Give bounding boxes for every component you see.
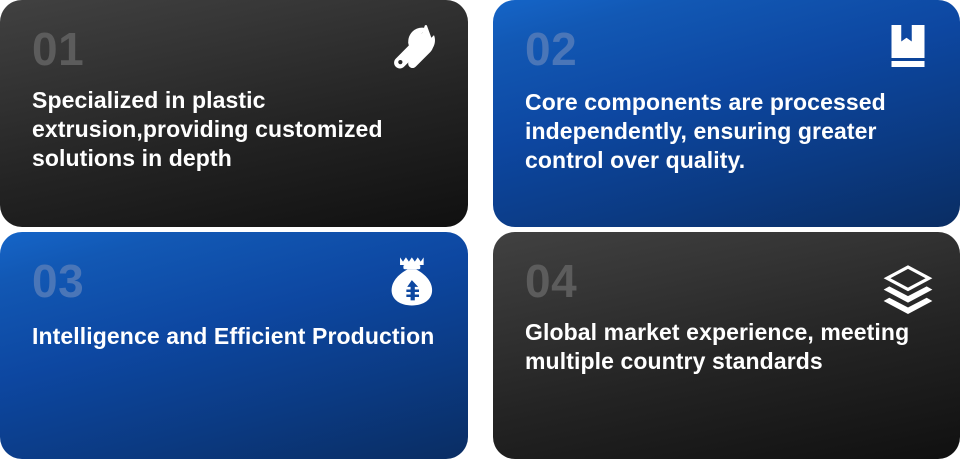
feature-card-grid: 01 Specialized in plastic extrusion,prov… [0, 0, 960, 459]
card-number-03: 03 [32, 258, 442, 304]
card-number-02: 02 [525, 26, 934, 72]
card-number-04: 04 [525, 258, 934, 304]
feature-card-02[interactable]: 02 Core components are processed indepen… [493, 0, 960, 227]
card-title-01: Specialized in plastic extrusion,providi… [32, 86, 442, 174]
money-bag-yen-icon [384, 254, 438, 308]
card-title-02: Core components are processed independen… [525, 88, 934, 176]
feature-card-04[interactable]: 04 Global market experience, meeting mul… [493, 232, 960, 459]
card-title-04: Global market experience, meeting multip… [525, 318, 925, 376]
card-title-03: Intelligence and Efficient Production [32, 322, 442, 351]
card-number-01: 01 [32, 26, 442, 72]
feature-card-01[interactable]: 01 Specialized in plastic extrusion,prov… [0, 0, 468, 227]
wrench-icon [388, 22, 440, 74]
feature-card-03[interactable]: 03 Intelligence and Efficient Production [0, 232, 468, 459]
book-bookmark-icon [884, 22, 932, 70]
layers-stack-icon [882, 262, 934, 314]
